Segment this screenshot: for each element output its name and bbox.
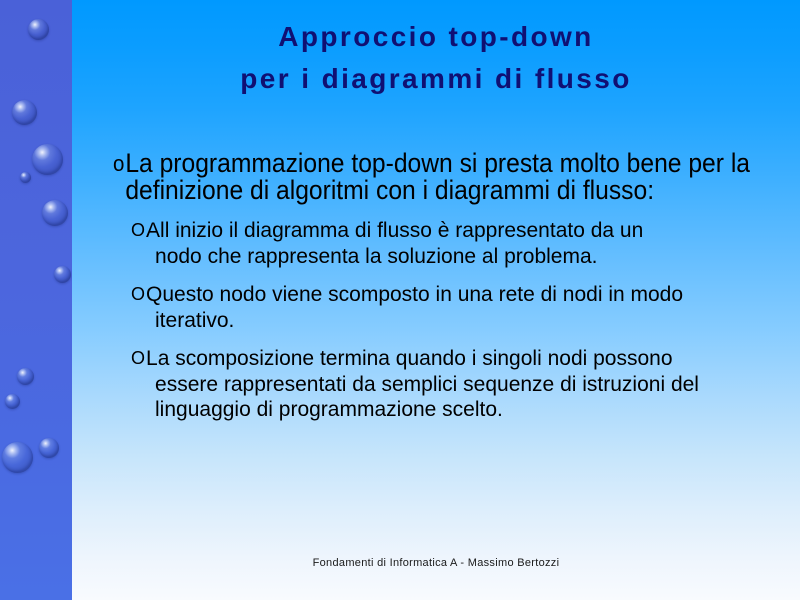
bubble-decoration-5 xyxy=(42,200,68,226)
bubble-decoration-4 xyxy=(20,172,31,183)
sidebar-decoration-band xyxy=(0,0,72,600)
bullet-level2-text: La scomposizione termina quando i singol… xyxy=(146,346,791,423)
bullet-circle-icon: O xyxy=(131,346,145,372)
slide-footer: Fondamenti di Informatica A - Massimo Be… xyxy=(72,557,800,569)
sub-bullet-list: O All inizio il diagramma di flusso è ra… xyxy=(131,218,791,423)
bullet-level2-text: All inizio il diagramma di flusso è rapp… xyxy=(146,218,791,269)
bubble-decoration-7 xyxy=(17,368,34,385)
slide-title: Approccio top-down per i diagrammi di fl… xyxy=(72,16,800,100)
bullet-line: linguaggio di programmazione scelto. xyxy=(155,397,791,423)
bullet-line: Questo nodo viene scomposto in una rete … xyxy=(146,282,791,308)
bubble-decoration-6 xyxy=(54,266,71,283)
bubble-decoration-3 xyxy=(32,144,63,175)
bubble-decoration-8 xyxy=(5,394,20,409)
bullet-level1: o La programmazione top-down si presta m… xyxy=(113,150,791,204)
bullet-circle-icon: O xyxy=(131,282,145,308)
bubble-decoration-10 xyxy=(39,438,59,458)
bullet-circle-icon: O xyxy=(131,218,145,244)
slide-canvas: Approccio top-down per i diagrammi di fl… xyxy=(0,0,800,600)
bullet-line: All inizio il diagramma di flusso è rapp… xyxy=(146,218,791,244)
bullet-level2: O La scomposizione termina quando i sing… xyxy=(131,346,791,423)
bullet-level1-text: La programmazione top-down si presta mol… xyxy=(125,150,791,204)
bullet-level2: O Questo nodo viene scomposto in una ret… xyxy=(131,282,791,333)
bullet-level2: O All inizio il diagramma di flusso è ra… xyxy=(131,218,791,269)
slide-title-line-2: per i diagrammi di flusso xyxy=(72,58,800,100)
bubble-decoration-9 xyxy=(2,442,33,473)
bullet-line: La scomposizione termina quando i singol… xyxy=(146,346,791,372)
bullet-line: nodo che rappresenta la soluzione al pro… xyxy=(155,244,791,270)
slide-title-line-1: Approccio top-down xyxy=(72,16,800,58)
bullet-line: essere rappresentati da semplici sequenz… xyxy=(155,372,791,398)
slide-body: o La programmazione top-down si presta m… xyxy=(113,150,791,436)
bubble-decoration-2 xyxy=(12,100,37,125)
bullet-circle-icon: o xyxy=(113,150,124,177)
bullet-level2-text: Questo nodo viene scomposto in una rete … xyxy=(146,282,791,333)
bullet-line: iterativo. xyxy=(155,308,791,334)
bubble-decoration-1 xyxy=(28,19,49,40)
